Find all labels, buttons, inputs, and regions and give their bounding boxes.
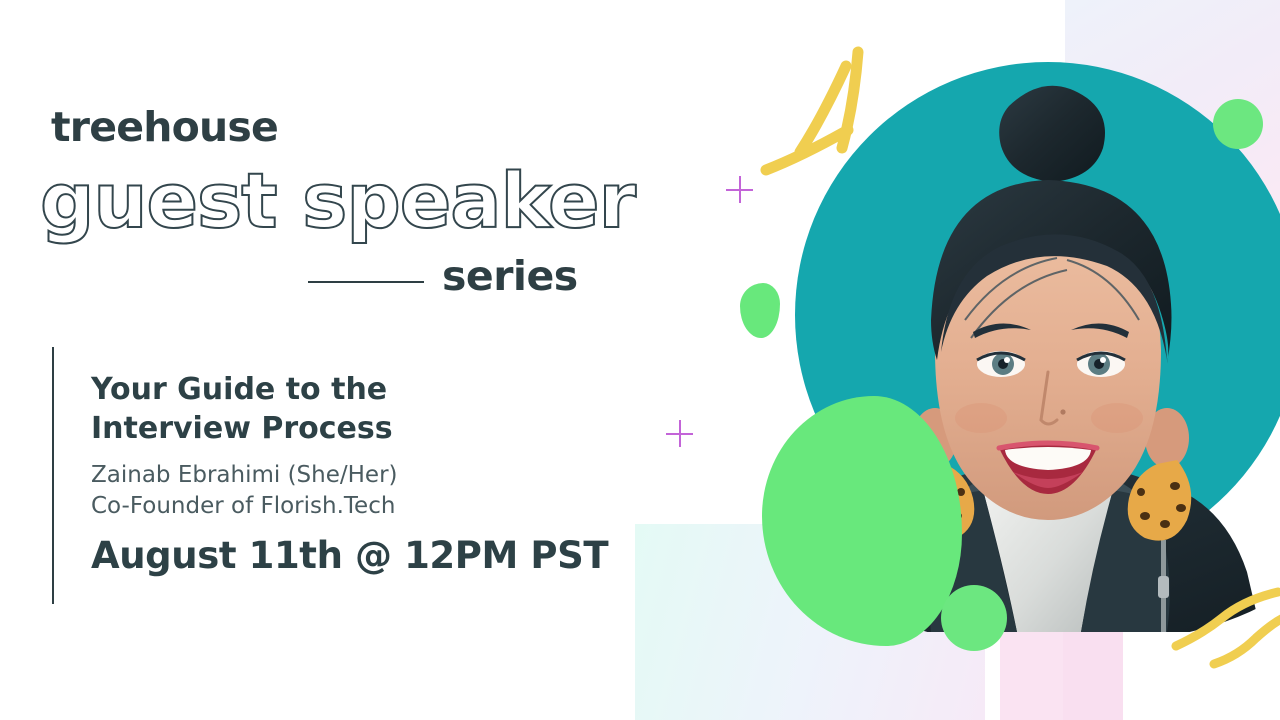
green-dot-top-right [1213,99,1263,149]
green-dot-bottom [941,585,1007,651]
talk-title: Your Guide to the Interview Process [91,370,551,448]
event-datetime: August 11th @ 12PM PST [91,536,608,577]
plus-mark-icon-upper [726,176,753,203]
talk-title-line-1: Your Guide to the [91,370,551,409]
brand-wordmark: treehouse [51,107,278,148]
speaker-details: Zainab Ebrahimi (She/Her) Co-Founder of … [91,460,561,521]
presentation-slide: treehouse guest speaker series Your Guid… [0,0,1280,720]
headline-outline-text: guest speaker [40,163,635,239]
pastel-panel-bottom-pink-right [1063,630,1123,720]
yellow-squiggle-strokes [1168,576,1280,676]
pastel-panel-bottom-pink-left [1000,628,1070,720]
text-column: treehouse guest speaker series Your Guid… [0,0,680,720]
series-label: series [442,256,578,297]
speaker-role: Co-Founder of Florish.Tech [91,491,561,522]
series-divider-rule [308,281,424,283]
talk-title-line-2: Interview Process [91,409,551,448]
yellow-sparkle-strokes [750,30,890,200]
vertical-accent-rule [52,347,54,604]
speaker-name: Zainab Ebrahimi (She/Her) [91,460,561,491]
green-blob-small [740,283,780,338]
earring-right [1128,460,1192,541]
